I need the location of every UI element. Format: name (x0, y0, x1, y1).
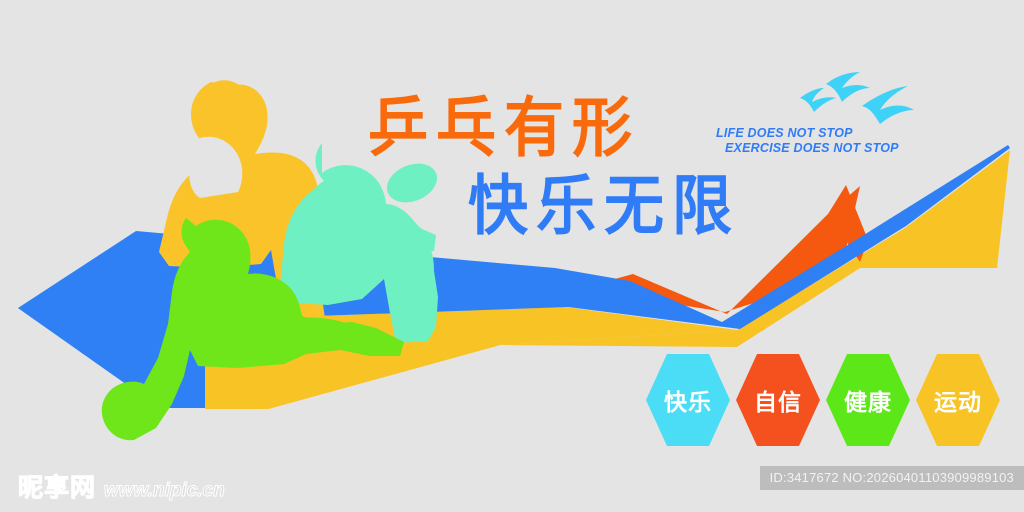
hex-badge-confidence-label: 自信 (754, 383, 802, 417)
bird-flock (800, 72, 914, 124)
bird-icon-1 (800, 88, 836, 112)
hex-badge-happy-label: 快乐 (664, 383, 712, 417)
tagline: LIFE DOES NOT STOP EXERCISE DOES NOT STO… (716, 126, 899, 156)
asset-id-badge: ID:3417672 NO:20260401103909989103 (760, 466, 1024, 490)
tagline-line-1: LIFE DOES NOT STOP (716, 126, 853, 140)
hex-badge-confidence: 自信 (736, 354, 820, 446)
watermark-brand: 昵享网 (18, 468, 96, 504)
site-watermark: 昵享网 www.nipic.cn (18, 468, 225, 504)
hex-badge-sport-label: 运动 (934, 383, 982, 417)
headline-primary: 乒乓有形 (368, 96, 640, 161)
footer-bar: 昵享网 www.nipic.cn ID:3417672 NO:202604011… (0, 454, 1024, 512)
hex-badge-sport: 运动 (916, 354, 1000, 446)
headline-secondary: 快乐无限 (468, 174, 740, 239)
bird-icon-3 (862, 86, 914, 124)
hex-badge-health: 健康 (826, 354, 910, 446)
watermark-url: www.nipic.cn (104, 480, 225, 502)
screenshot-root: 乒乓有形 快乐无限 LIFE DOES NOT STOP EXERCISE DO… (0, 0, 1024, 512)
hex-badge-row: 快乐 自信 健康 运动 (646, 354, 1006, 446)
tagline-line-2: EXERCISE DOES NOT STOP (716, 141, 899, 156)
hex-badge-happy: 快乐 (646, 354, 730, 446)
hex-badge-health-label: 健康 (844, 383, 892, 417)
artboard: 乒乓有形 快乐无限 LIFE DOES NOT STOP EXERCISE DO… (0, 0, 1024, 512)
